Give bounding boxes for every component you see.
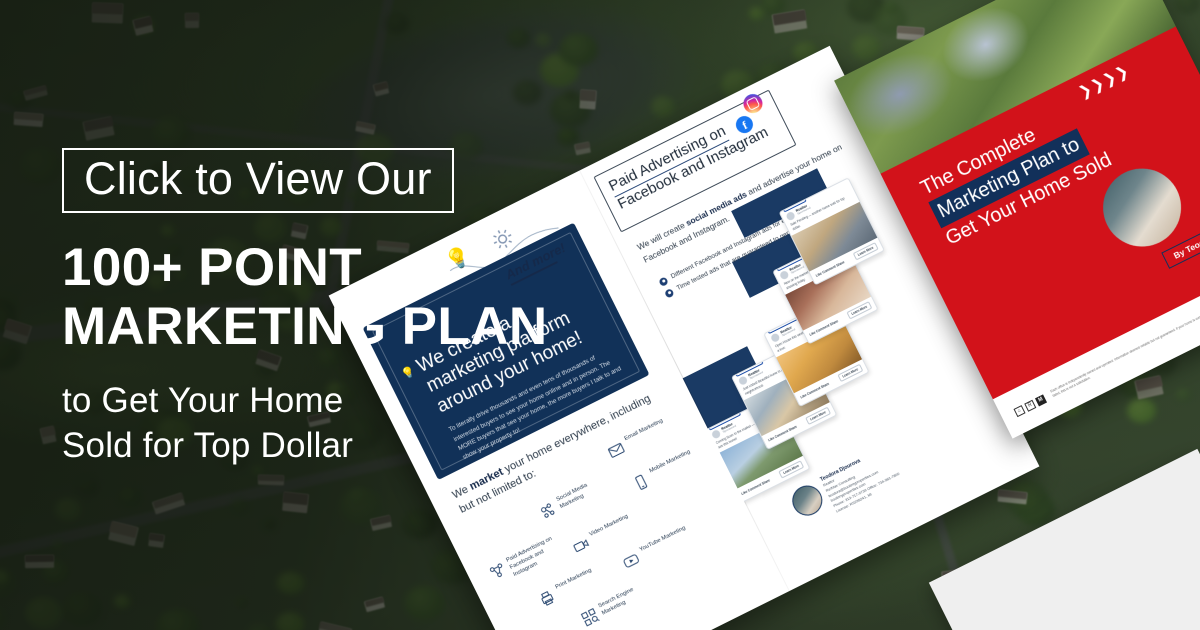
- subheadline-line-2: Sold for Top Dollar: [62, 423, 582, 469]
- marketing-channel-item: Social Media Marketing: [537, 474, 610, 522]
- agent-details: Teodora Djourova RealtorRe/Max Consultin…: [819, 445, 903, 515]
- headline-line-2: MARKETING PLAN: [62, 298, 582, 356]
- search-grid-icon: [579, 606, 602, 629]
- marketing-channel-item: YouTube Marketing: [620, 525, 692, 572]
- realtor-icon: R: [1024, 399, 1036, 411]
- marketing-channel-item: Mobile Marketing: [630, 449, 697, 494]
- marketing-channel-label: Video Marketing: [589, 514, 631, 540]
- marketing-channel-label: Print Marketing: [555, 568, 594, 593]
- bullet-dot-icon: [664, 288, 675, 299]
- mobile-icon: [630, 471, 653, 494]
- video-icon: [570, 534, 593, 557]
- marketing-channel-label: Paid Advertising on Facebook and Instagr…: [505, 535, 562, 579]
- cover-footer-logos: ⌂ R M: [1013, 394, 1047, 417]
- network-icon: [487, 560, 510, 583]
- equal-housing-icon: ⌂: [1013, 405, 1025, 417]
- marketing-channel-item: Print Marketing: [536, 568, 598, 610]
- click-to-view-label: Click to View Our: [84, 155, 432, 202]
- share-nodes-icon: [537, 499, 560, 522]
- marketing-channel-item: Video Marketing: [570, 514, 634, 558]
- marketing-channel-label: Social Media Marketing: [556, 474, 610, 511]
- subheadline-line-1: to Get Your Home: [62, 378, 582, 424]
- marketing-channel-item: Paid Advertising on Facebook and Instagr…: [487, 535, 563, 589]
- marketing-channel-item: Search Engine Marketing: [579, 581, 652, 629]
- bullet-dot-icon: [658, 276, 669, 287]
- mls-icon: M: [1035, 394, 1047, 406]
- print-icon: [536, 587, 559, 610]
- headline-block: Click to View Our 100+ POINT MARKETING P…: [62, 148, 582, 469]
- subheadline-block: to Get Your Home Sold for Top Dollar: [62, 378, 582, 469]
- click-to-view-button[interactable]: Click to View Our: [62, 148, 454, 213]
- headline-line-1: 100+ POINT: [62, 239, 582, 297]
- youtube-icon: [620, 550, 643, 573]
- agent-avatar: [787, 480, 827, 520]
- marketing-channel-label: YouTube Marketing: [639, 525, 688, 555]
- marketing-channel-label: Mobile Marketing: [649, 449, 693, 476]
- marketing-channel-label: Search Engine Marketing: [597, 581, 651, 618]
